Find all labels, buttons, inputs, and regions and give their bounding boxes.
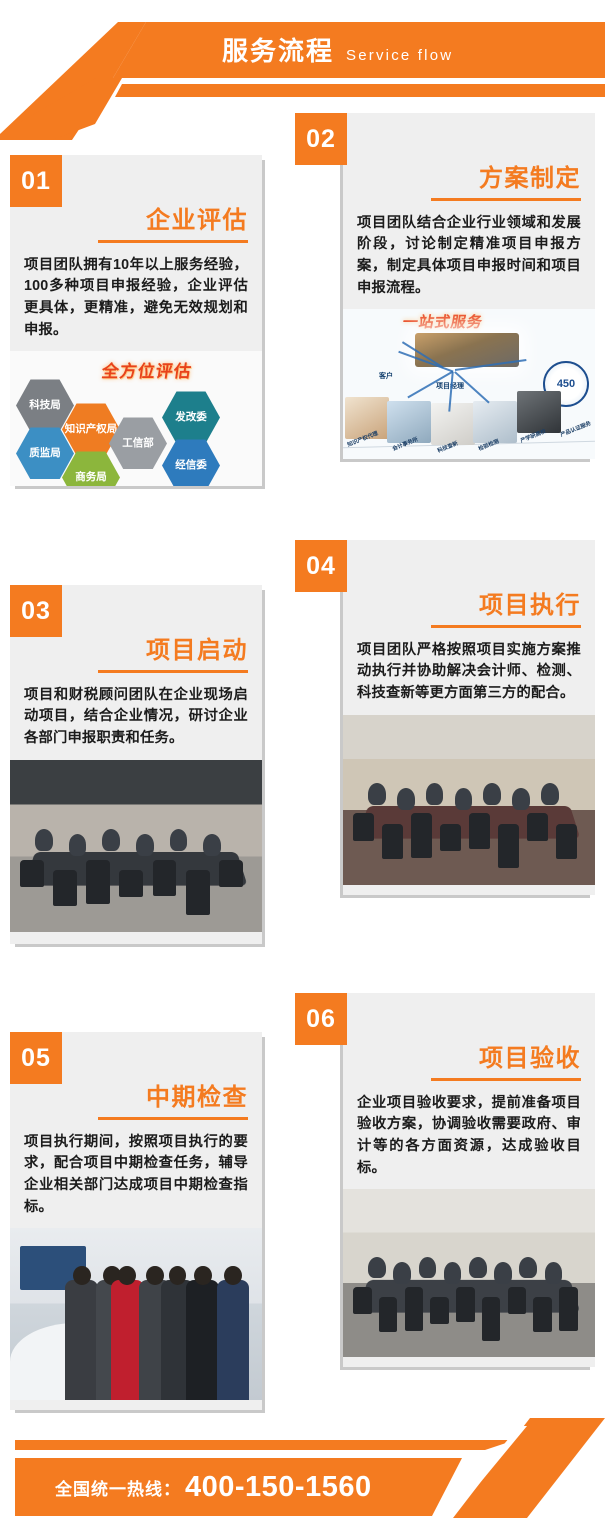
- hexagon-chart: 全方位评估 科技局 知识产权局 发改委 质监局 工信部 商务局 经信委: [10, 351, 262, 486]
- card-05-number-badge: 05: [10, 1032, 62, 1084]
- card-04-body: 项目团队严格按照项目实施方案推动执行并协助解决会计师、检测、科技查新等更方面第三…: [343, 628, 595, 715]
- header-text-group: 服务流程 Service flow: [222, 30, 453, 72]
- hex-node-gongxin: 工信部: [109, 417, 167, 469]
- card-06-title: 项目验收: [343, 1045, 595, 1073]
- card-02[interactable]: 方案制定 项目团队结合企业行业领域和发展阶段，讨论制定精准项目申报方案，制定具体…: [343, 113, 595, 459]
- card-04-number-badge: 04: [295, 540, 347, 592]
- service-node-university: [517, 391, 561, 433]
- hexagon-chart-title: 全方位评估: [100, 357, 194, 382]
- page-footer: 全国统一热线： 400-150-1560: [0, 1418, 605, 1538]
- card-04[interactable]: 项目执行 项目团队严格按照项目实施方案推动执行并协助解决会计师、检测、科技查新等…: [343, 540, 595, 895]
- service-diagram: 一站式服务 450 客户 项目经理 知识产权代理 会计事务所 科技查新 检验检测…: [343, 309, 595, 459]
- card-06[interactable]: 项目验收 企业项目验收要求，提前准备项目验收方案，协调验收需要政府、审计等的各方…: [343, 993, 595, 1367]
- card-06-body: 企业项目验收要求，提前准备项目验收方案，协调验收需要政府、审计等的各方面资源，达…: [343, 1081, 595, 1190]
- card-03-number-badge: 03: [10, 585, 62, 637]
- card-03-body: 项目和财税顾问团队在企业现场启动项目，结合企业情况，研讨企业各部门申报职责和任务…: [10, 673, 262, 760]
- card-05-photo: [10, 1228, 262, 1400]
- card-03-title: 项目启动: [10, 637, 262, 665]
- card-01-body: 项目团队拥有10年以上服务经验，100多种项目申报经验，企业评估更具体，更精准，…: [10, 243, 262, 352]
- card-04-title: 项目执行: [343, 592, 595, 620]
- hotline-label: 全国统一热线：: [55, 1475, 181, 1500]
- service-diagram-title: 一站式服务: [401, 311, 485, 332]
- card-02-number-badge: 02: [295, 113, 347, 165]
- card-03-photo: [10, 760, 262, 932]
- card-01-number-badge: 01: [10, 155, 62, 207]
- card-01-title: 企业评估: [10, 207, 262, 235]
- hotline-number[interactable]: 400-150-1560: [185, 1471, 372, 1504]
- card-02-body: 项目团队结合企业行业领域和发展阶段，讨论制定精准项目申报方案，制定具体项目申报时…: [343, 201, 595, 310]
- hex-node-jingxin: 经信委: [162, 439, 220, 486]
- page-title: 服务流程: [222, 30, 334, 72]
- page-subtitle: Service flow: [346, 35, 453, 77]
- service-label-customer: 客户: [379, 371, 393, 381]
- card-05[interactable]: 中期检查 项目执行期间，按照项目执行的要求，配合项目中期检查任务，辅导企业相关部…: [10, 1032, 262, 1410]
- card-06-photo: [343, 1189, 595, 1357]
- card-02-title: 方案制定: [343, 165, 595, 193]
- card-03[interactable]: 项目启动 项目和财税顾问团队在企业现场启动项目，结合企业情况，研讨企业各部门申报…: [10, 585, 262, 944]
- hex-node-fagai: 发改委: [162, 391, 220, 443]
- card-06-number-badge: 06: [295, 993, 347, 1045]
- card-05-body: 项目执行期间，按照项目执行的要求，配合项目中期检查任务，辅导企业相关部门达成项目…: [10, 1120, 262, 1229]
- card-04-photo: [343, 715, 595, 885]
- service-caption-product-cert: 产品认证服务: [559, 419, 592, 439]
- footer-hotline-group: 全国统一热线： 400-150-1560: [55, 1458, 372, 1516]
- card-05-title: 中期检查: [10, 1084, 262, 1112]
